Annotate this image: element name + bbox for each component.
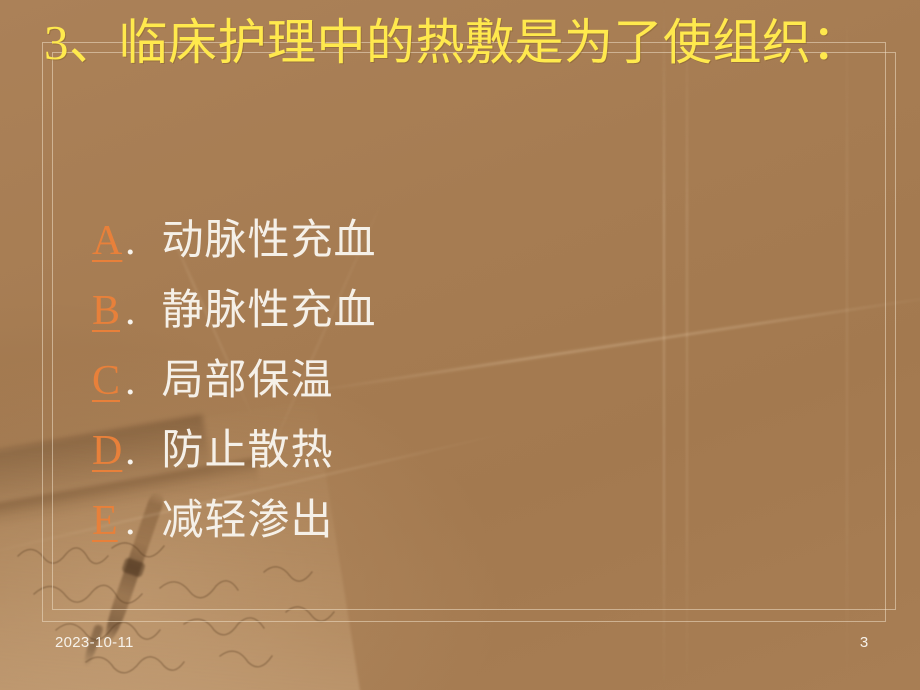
answer-option-a[interactable]: A.动脉性充血 [92, 206, 852, 276]
option-text-e: 减轻渗出 [162, 486, 334, 556]
option-text-b: 静脉性充血 [162, 276, 377, 346]
option-dot-b: . [125, 276, 136, 346]
option-letter-b: B [92, 276, 124, 346]
option-text-c: 局部保温 [162, 346, 334, 416]
answer-option-d[interactable]: D.防止散热 [92, 416, 852, 486]
answer-option-c[interactable]: C.局部保温 [92, 346, 852, 416]
option-letter-a: A [92, 206, 124, 276]
option-dot-c: . [125, 346, 136, 416]
answer-options-list: A.动脉性充血 B.静脉性充血 C.局部保温 D.防止散热 E.减轻渗出 [92, 206, 852, 556]
option-letter-d: D [92, 416, 124, 486]
option-dot-a: . [125, 206, 136, 276]
option-text-a: 动脉性充血 [162, 206, 377, 276]
option-dot-e: . [125, 486, 136, 556]
footer-date: 2023-10-11 [55, 634, 134, 651]
footer-page-number: 3 [852, 634, 876, 651]
presentation-slide: 3、临床护理中的热敷是为了使组织： A.动脉性充血 B.静脉性充血 C.局部保温… [0, 0, 920, 690]
option-text-d: 防止散热 [162, 416, 334, 486]
option-dot-d: . [125, 416, 136, 486]
answer-option-b[interactable]: B.静脉性充血 [92, 276, 852, 346]
slide-content: 3、临床护理中的热敷是为了使组织： A.动脉性充血 B.静脉性充血 C.局部保温… [0, 0, 920, 690]
slide-title: 3、临床护理中的热敷是为了使组织： [44, 14, 880, 72]
option-letter-e: E [92, 486, 124, 556]
answer-option-e[interactable]: E.减轻渗出 [92, 486, 852, 556]
option-letter-c: C [92, 346, 124, 416]
